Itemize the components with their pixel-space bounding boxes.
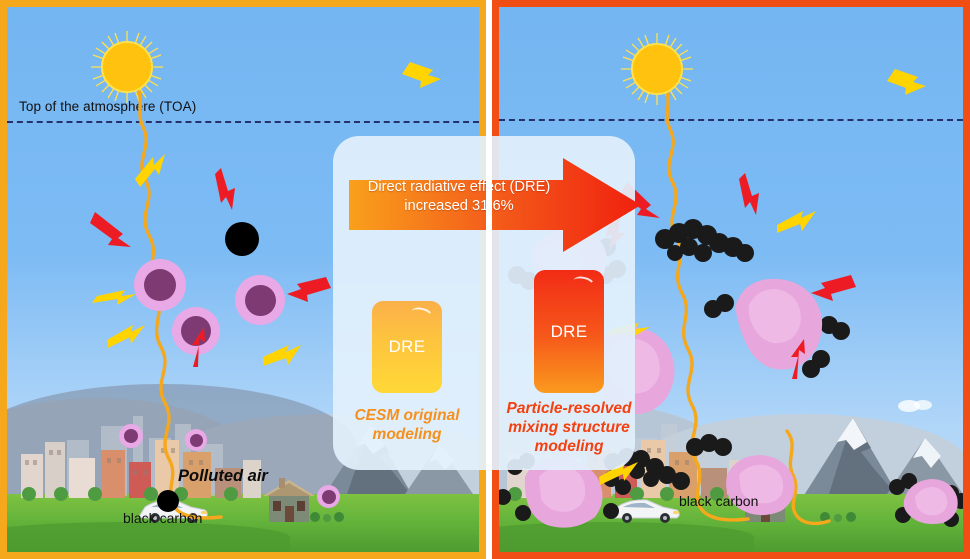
arrow-text-line2: increased 31.6% (404, 198, 513, 214)
caption-right-line1: Particle-resolved (507, 400, 632, 417)
caption-left-line1: CESM original (354, 407, 459, 424)
dre-bar-label-right: DRE (551, 322, 588, 342)
black-carbon-label-right: black carbon (679, 493, 758, 509)
bar-gloss-highlight (572, 275, 596, 292)
figure-root: Top of the atmosphere (TOA) (0, 0, 970, 559)
dre-bar-particle-resolved: DRE (534, 270, 604, 393)
panel-divider (486, 0, 492, 559)
dre-bar-cesm-original: DRE (372, 301, 442, 393)
dre-increase-arrow: Direct radiative effect (DRE) increased … (349, 158, 641, 252)
caption-cesm-original: CESM original modeling (327, 406, 487, 444)
red-absorption-arrow-icon (605, 173, 856, 379)
caption-right-line3: modeling (535, 438, 604, 455)
bar-gloss-highlight (410, 306, 434, 323)
sun-disc (101, 41, 153, 93)
caption-particle-resolved: Particle-resolved mixing structure model… (489, 399, 649, 456)
sun-disc (631, 43, 683, 95)
arrow-text: Direct radiative effect (DRE) increased … (361, 178, 557, 216)
black-carbon-label-left: black carbon (123, 510, 202, 526)
dre-bar-label-left: DRE (389, 337, 426, 357)
arrow-text-line1: Direct radiative effect (DRE) (368, 179, 551, 195)
caption-right-line2: mixing structure (508, 419, 629, 436)
caption-left-line2: modeling (373, 426, 442, 443)
polluted-air-label: Polluted air (178, 467, 268, 486)
